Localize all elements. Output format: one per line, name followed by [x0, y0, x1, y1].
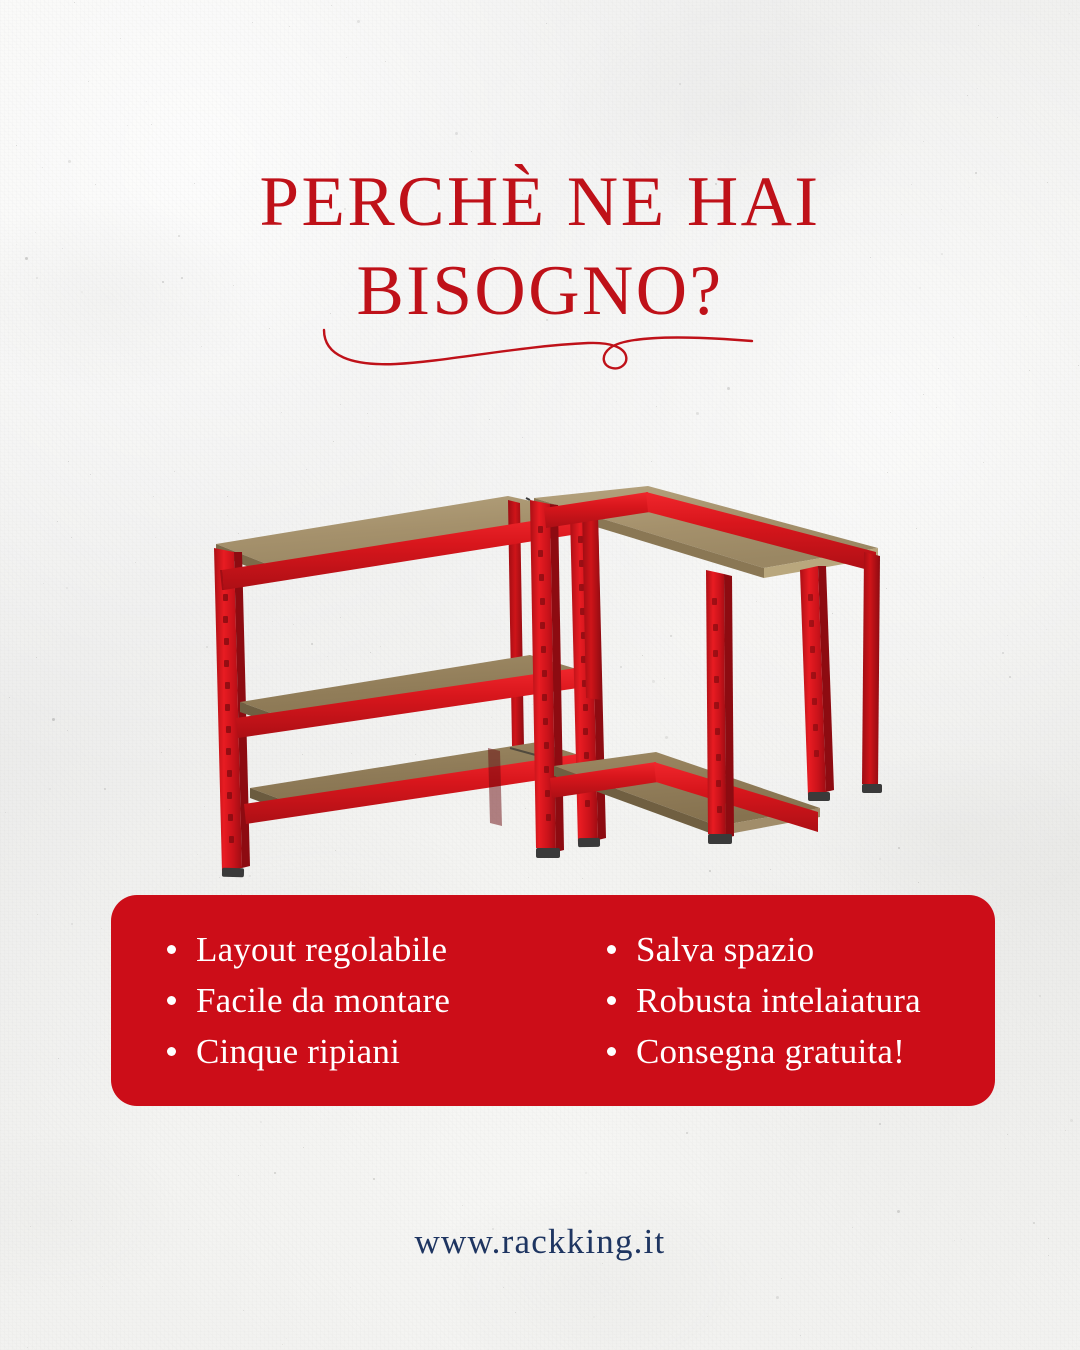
title-line-1: PERCHÈ NE HAI	[0, 158, 1080, 247]
feature-list-box: Layout regolabile Facile da montare Cinq…	[111, 895, 995, 1106]
flourish-divider	[0, 318, 1080, 388]
feature-label: Consegna gratuita!	[636, 1026, 905, 1077]
feature-label: Cinque ripiani	[196, 1026, 400, 1077]
corner-shelving-unit-icon	[178, 448, 908, 896]
page-title: PERCHÈ NE HAI BISOGNO?	[0, 158, 1080, 337]
bullet-icon	[607, 996, 616, 1005]
feature-label: Layout regolabile	[196, 924, 447, 975]
list-item: Layout regolabile	[167, 924, 607, 975]
list-item: Consegna gratuita!	[607, 1026, 987, 1077]
list-item: Salva spazio	[607, 924, 987, 975]
list-item: Robusta intelaiatura	[607, 975, 987, 1026]
list-item: Cinque ripiani	[167, 1026, 607, 1077]
bullet-icon	[167, 945, 176, 954]
feature-label: Salva spazio	[636, 924, 814, 975]
flourish-swash-icon	[300, 318, 780, 388]
product-image	[178, 448, 908, 896]
poster-canvas: PERCHÈ NE HAI BISOGNO?	[0, 0, 1080, 1350]
feature-label: Facile da montare	[196, 975, 450, 1026]
list-item: Facile da montare	[167, 975, 607, 1026]
bullet-icon	[607, 945, 616, 954]
feature-column-left: Layout regolabile Facile da montare Cinq…	[167, 924, 607, 1077]
feature-label: Robusta intelaiatura	[636, 975, 921, 1026]
bullet-icon	[167, 1047, 176, 1056]
feature-column-right: Salva spazio Robusta intelaiatura Conseg…	[607, 924, 987, 1077]
bullet-icon	[167, 996, 176, 1005]
website-url[interactable]: www.rackking.it	[0, 1222, 1080, 1262]
bullet-icon	[607, 1047, 616, 1056]
